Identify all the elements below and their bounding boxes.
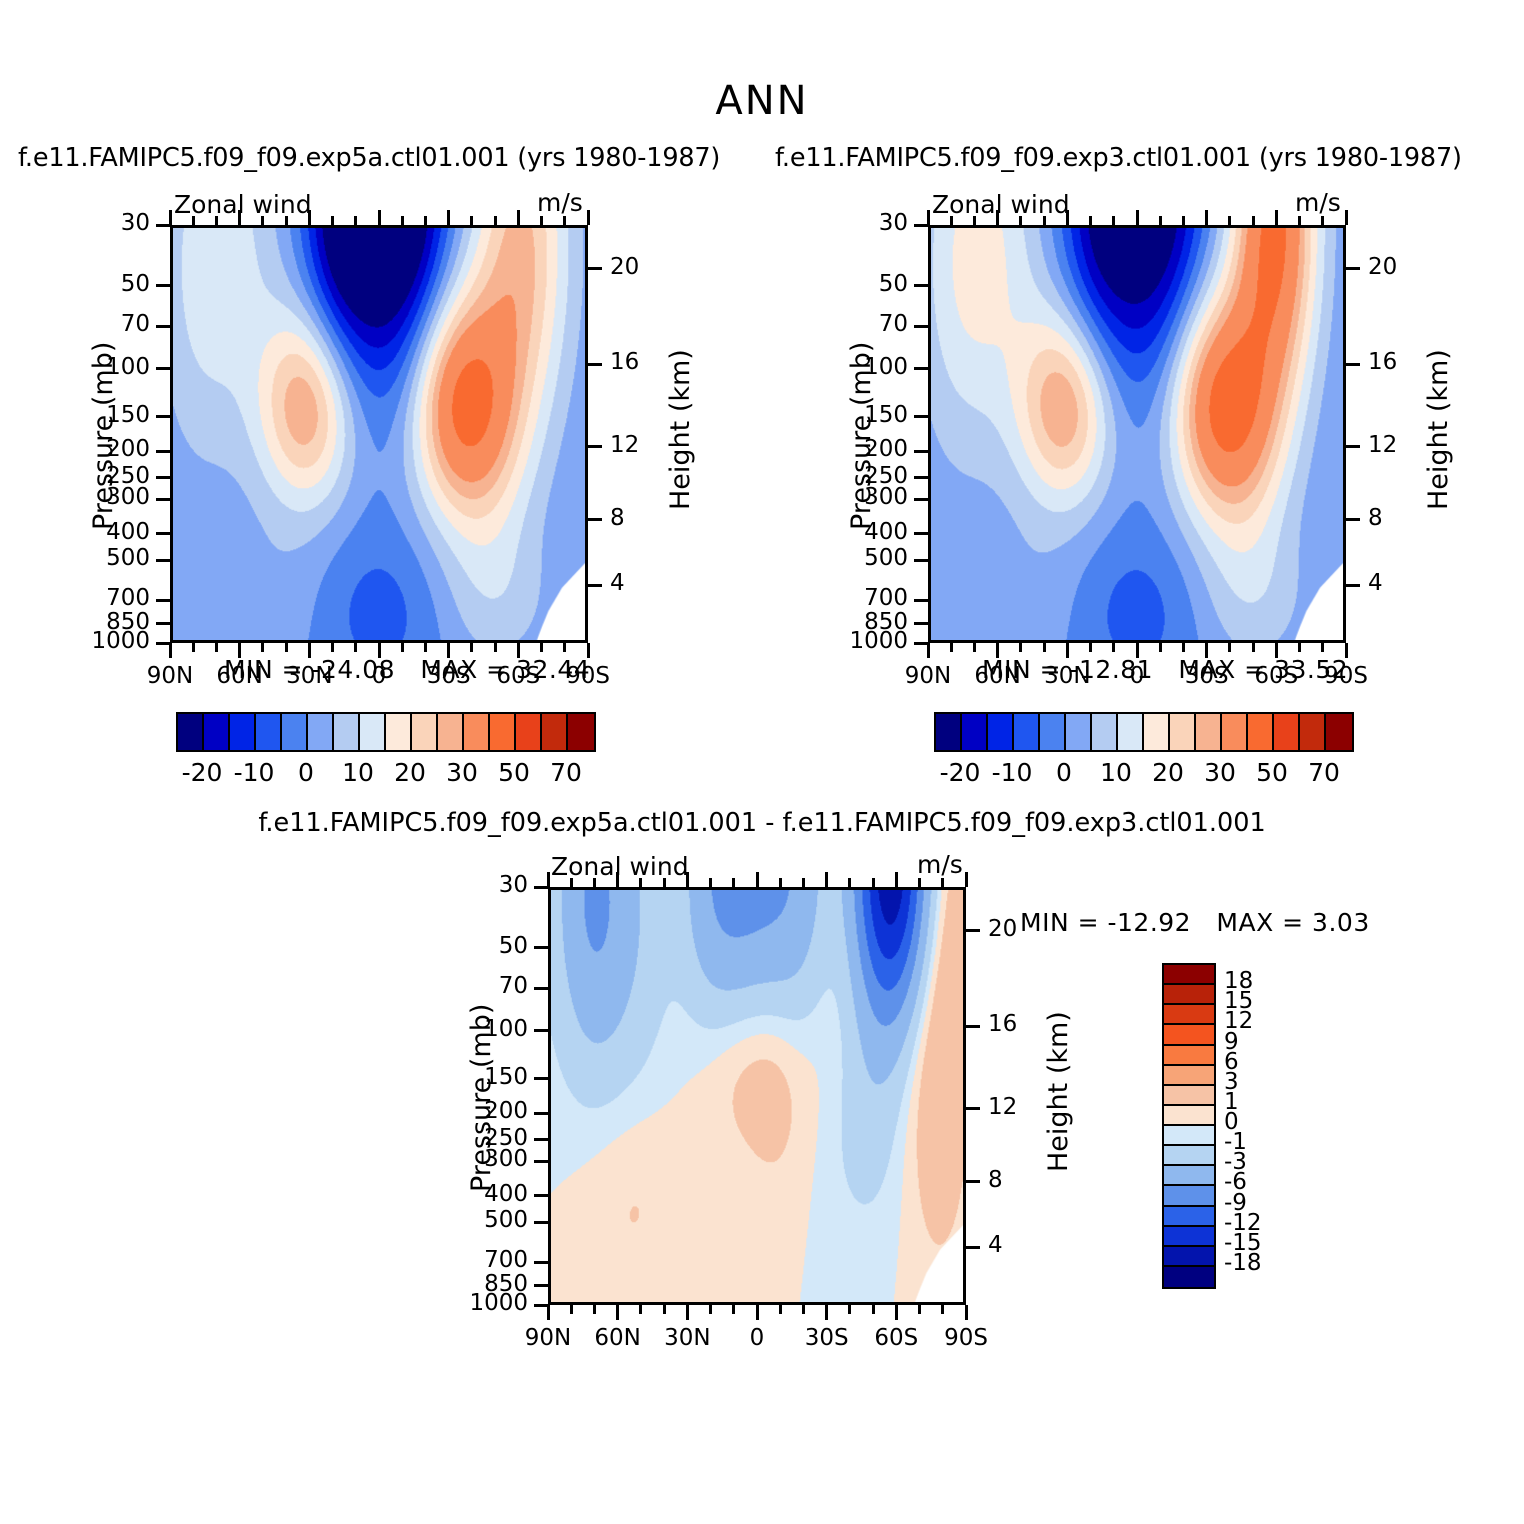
lat-tick-minor-top — [1019, 216, 1022, 225]
lat-tick-major — [587, 643, 590, 658]
lat-tick-major — [686, 1305, 689, 1320]
lat-tick-major-top — [308, 210, 311, 225]
lat-tick-minor-top — [401, 216, 404, 225]
colorbar-swatch — [230, 714, 256, 750]
pressure-tick — [534, 1138, 548, 1141]
lat-tick-minor-top — [192, 216, 195, 225]
pressure-tick — [914, 498, 928, 501]
pressure-tick-label: 400 — [420, 1181, 528, 1207]
colorbar-swatch — [1164, 1086, 1214, 1106]
lat-tick-major-top — [927, 210, 930, 225]
pressure-tick — [534, 1194, 548, 1197]
colorbar-swatch — [542, 714, 568, 750]
lat-tick-minor-top — [261, 216, 264, 225]
pressure-tick — [914, 325, 928, 328]
lat-tick-minor — [941, 1305, 944, 1314]
pressure-tick — [534, 1261, 548, 1264]
pressure-tick-label: 150 — [42, 402, 150, 428]
lat-tick-minor-top — [779, 878, 782, 887]
lat-tick-minor — [192, 643, 195, 652]
colorbar-swatch — [1164, 1227, 1214, 1247]
lat-tick-minor — [1089, 643, 1092, 652]
lat-tick-minor — [331, 643, 334, 652]
colorbar-swatch — [178, 714, 204, 750]
height-tick-label: 4 — [988, 1232, 1048, 1258]
colorbar-swatch — [1164, 1025, 1214, 1045]
left-panel-title: f.e11.FAMIPC5.f09_f09.exp5a.ctl01.001 (y… — [18, 143, 720, 173]
pressure-tick-label: 200 — [800, 436, 908, 462]
height-tick — [1346, 363, 1360, 366]
lat-tick-minor-top — [1182, 216, 1185, 225]
lat-tick-minor — [1112, 643, 1115, 652]
lat-tick-minor-top — [663, 878, 666, 887]
lat-tick-minor — [494, 643, 497, 652]
pressure-tick-label: 200 — [420, 1098, 528, 1124]
lat-tick-major-top — [378, 210, 381, 225]
lat-tick-minor — [1043, 643, 1046, 652]
colorbar-swatch — [438, 714, 464, 750]
pressure-tick-label: 1000 — [42, 628, 150, 654]
pressure-tick-label: 30 — [420, 872, 528, 898]
height-tick — [1346, 445, 1360, 448]
lat-tick-minor-top — [941, 878, 944, 887]
pressure-tick-label: 70 — [800, 311, 908, 337]
pressure-tick-label: 500 — [800, 545, 908, 571]
colorbar-swatch — [1164, 1106, 1214, 1126]
height-tick — [588, 267, 602, 270]
pressure-tick — [914, 622, 928, 625]
pressure-tick-label: 100 — [420, 1016, 528, 1042]
lat-tick-major — [1136, 643, 1139, 658]
lat-tick-minor-top — [732, 878, 735, 887]
colorbar-swatch — [1164, 1267, 1214, 1287]
pressure-tick — [914, 284, 928, 287]
pressure-tick-label: 300 — [420, 1146, 528, 1172]
pressure-tick-label: 150 — [800, 402, 908, 428]
lat-tick-major — [308, 643, 311, 658]
lat-tick-minor-top — [918, 878, 921, 887]
lat-tick-minor — [563, 643, 566, 652]
lat-tick-minor — [732, 1305, 735, 1314]
lat-tick-minor-top — [1159, 216, 1162, 225]
lat-tick-minor-top — [802, 878, 805, 887]
colorbar-swatch — [1164, 1005, 1214, 1025]
height-tick-label: 20 — [610, 254, 670, 280]
lat-tick-minor — [215, 643, 218, 652]
lat-tick-major-top — [756, 872, 759, 887]
colorbar-swatch — [1164, 1126, 1214, 1146]
pressure-tick-label: 400 — [42, 519, 150, 545]
diff-colorbar — [1162, 963, 1216, 1289]
height-tick — [966, 1025, 980, 1028]
lat-tick-minor-top — [1228, 216, 1231, 225]
left-contour-plot — [170, 225, 588, 643]
diff-variable-label: Zonal wind — [551, 852, 689, 881]
lat-tick-major — [169, 643, 172, 658]
lat-tick-major — [517, 643, 520, 658]
lat-tick-major-top — [447, 210, 450, 225]
colorbar-swatch — [568, 714, 594, 750]
pressure-tick-label: 30 — [800, 210, 908, 236]
lat-tick-major-top — [965, 872, 968, 887]
colorbar-swatch — [412, 714, 438, 750]
lat-tick-minor-top — [540, 216, 543, 225]
colorbar-tick-label: 70 — [1279, 758, 1369, 787]
lat-tick-major — [1205, 643, 1208, 658]
right-colorbar — [934, 712, 1354, 752]
lat-tick-major — [547, 1305, 550, 1320]
pressure-tick-label: 100 — [42, 354, 150, 380]
pressure-tick — [534, 1112, 548, 1115]
right-panel-title: f.e11.FAMIPC5.f09_f09.exp3.ctl01.001 (yr… — [775, 143, 1462, 173]
pressure-tick — [534, 1221, 548, 1224]
colorbar-swatch — [1164, 1166, 1214, 1186]
pressure-tick — [914, 599, 928, 602]
lat-tick-minor-top — [563, 216, 566, 225]
pressure-tick-label: 300 — [800, 484, 908, 510]
colorbar-swatch — [1066, 714, 1092, 750]
lat-tick-minor — [1019, 643, 1022, 652]
height-tick — [1346, 267, 1360, 270]
lat-tick-minor — [1159, 643, 1162, 652]
lat-tick-minor — [1182, 643, 1185, 652]
colorbar-swatch — [1196, 714, 1222, 750]
lat-tick-major-top — [1066, 210, 1069, 225]
lat-tick-minor — [639, 1305, 642, 1314]
colorbar-swatch — [1164, 1066, 1214, 1086]
page-title: ANN — [0, 78, 1524, 124]
right-plot-canvas — [931, 228, 1343, 640]
pressure-tick-label: 700 — [42, 585, 150, 611]
height-tick-label: 8 — [988, 1167, 1048, 1193]
lat-tick-minor-top — [1321, 216, 1324, 225]
colorbar-swatch — [1092, 714, 1118, 750]
colorbar-swatch — [1164, 1207, 1214, 1227]
right-units-label: m/s — [1295, 188, 1341, 217]
colorbar-swatch — [1164, 985, 1214, 1005]
height-tick — [966, 1246, 980, 1249]
left-variable-label: Zonal wind — [174, 190, 312, 219]
lat-tick-label: 90S — [538, 663, 638, 689]
lat-tick-minor-top — [848, 878, 851, 887]
colorbar-swatch — [490, 714, 516, 750]
pressure-tick — [914, 476, 928, 479]
lat-tick-major — [378, 643, 381, 658]
lat-tick-minor-top — [950, 216, 953, 225]
pressure-tick — [914, 559, 928, 562]
colorbar-swatch — [1164, 965, 1214, 985]
colorbar-swatch — [988, 714, 1014, 750]
colorbar-swatch — [936, 714, 962, 750]
height-tick-label: 20 — [988, 916, 1048, 942]
lat-tick-minor-top — [215, 216, 218, 225]
colorbar-swatch — [1300, 714, 1326, 750]
lat-tick-major-top — [1345, 210, 1348, 225]
pressure-tick-label: 1000 — [800, 628, 908, 654]
lat-tick-major-top — [1136, 210, 1139, 225]
lat-tick-major-top — [517, 210, 520, 225]
right-variable-label: Zonal wind — [932, 190, 1070, 219]
lat-tick-label: 90S — [916, 1325, 1016, 1351]
lat-tick-major-top — [1275, 210, 1278, 225]
lat-tick-minor — [401, 643, 404, 652]
colorbar-swatch — [204, 714, 230, 750]
height-tick-label: 12 — [610, 432, 670, 458]
colorbar-swatch — [962, 714, 988, 750]
lat-tick-minor-top — [1043, 216, 1046, 225]
lat-tick-label: 90S — [1296, 663, 1396, 689]
height-tick-label: 8 — [610, 505, 670, 531]
lat-tick-minor — [779, 1305, 782, 1314]
lat-tick-minor — [424, 643, 427, 652]
pressure-tick — [156, 367, 170, 370]
lat-tick-major-top — [616, 872, 619, 887]
colorbar-swatch — [1222, 714, 1248, 750]
colorbar-swatch — [1170, 714, 1196, 750]
left-units-label: m/s — [537, 188, 583, 217]
pressure-tick — [534, 987, 548, 990]
lat-tick-minor — [570, 1305, 573, 1314]
pressure-tick-label: 70 — [420, 973, 528, 999]
colorbar-swatch — [1144, 714, 1170, 750]
pressure-tick-label: 30 — [42, 210, 150, 236]
diff-max-label: MAX = 3.03 — [1216, 908, 1369, 937]
diff-panel-title: f.e11.FAMIPC5.f09_f09.exp5a.ctl01.001 - … — [0, 808, 1524, 838]
lat-tick-major — [927, 643, 930, 658]
left-colorbar — [176, 712, 596, 752]
lat-tick-major — [1345, 643, 1348, 658]
colorbar-tick-label: 70 — [521, 758, 611, 787]
colorbar-swatch — [308, 714, 334, 750]
colorbar-swatch — [1274, 714, 1300, 750]
pressure-tick — [156, 498, 170, 501]
pressure-tick-label: 700 — [800, 585, 908, 611]
colorbar-swatch — [1248, 714, 1274, 750]
lat-tick-minor — [354, 643, 357, 652]
lat-tick-major — [1275, 643, 1278, 658]
pressure-tick — [156, 415, 170, 418]
lat-tick-minor-top — [285, 216, 288, 225]
lat-tick-major — [965, 1305, 968, 1320]
pressure-tick — [534, 1160, 548, 1163]
lat-tick-minor — [918, 1305, 921, 1314]
right-contour-plot — [928, 225, 1346, 643]
height-tick — [966, 929, 980, 932]
height-tick-label: 4 — [1368, 570, 1428, 596]
colorbar-swatch — [1164, 1146, 1214, 1166]
pressure-tick-label: 50 — [42, 271, 150, 297]
colorbar-swatch — [386, 714, 412, 750]
lat-tick-major — [616, 1305, 619, 1320]
pressure-tick-label: 400 — [800, 519, 908, 545]
diff-units-label: m/s — [917, 850, 963, 879]
height-tick-label: 16 — [1368, 349, 1428, 375]
lat-tick-minor — [593, 1305, 596, 1314]
pressure-tick-label: 300 — [42, 484, 150, 510]
height-tick-label: 12 — [988, 1094, 1048, 1120]
colorbar-swatch — [1164, 1186, 1214, 1206]
pressure-tick — [914, 367, 928, 370]
lat-tick-major — [238, 643, 241, 658]
colorbar-tick-label: -18 — [1224, 1250, 1262, 1276]
pressure-tick — [156, 532, 170, 535]
lat-tick-major — [895, 1305, 898, 1320]
lat-tick-minor — [1298, 643, 1301, 652]
pressure-tick-label: 200 — [42, 436, 150, 462]
lat-tick-major — [996, 643, 999, 658]
height-tick — [588, 518, 602, 521]
lat-tick-minor — [802, 1305, 805, 1314]
colorbar-swatch — [334, 714, 360, 750]
lat-tick-minor-top — [494, 216, 497, 225]
pressure-tick-label: 70 — [42, 311, 150, 337]
lat-tick-minor — [261, 643, 264, 652]
lat-tick-minor — [973, 643, 976, 652]
height-tick — [966, 1180, 980, 1183]
lat-tick-minor-top — [354, 216, 357, 225]
lat-tick-minor — [872, 1305, 875, 1314]
lat-tick-minor — [1252, 643, 1255, 652]
lat-tick-minor-top — [973, 216, 976, 225]
pressure-tick — [156, 284, 170, 287]
lat-tick-major-top — [825, 872, 828, 887]
pressure-tick — [534, 946, 548, 949]
lat-tick-major-top — [169, 210, 172, 225]
colorbar-swatch — [464, 714, 490, 750]
lat-tick-minor — [950, 643, 953, 652]
colorbar-swatch — [1164, 1247, 1214, 1267]
lat-tick-minor — [709, 1305, 712, 1314]
pressure-tick-label: 100 — [800, 354, 908, 380]
colorbar-swatch — [256, 714, 282, 750]
pressure-tick — [914, 532, 928, 535]
height-tick — [588, 445, 602, 448]
pressure-tick-label: 500 — [42, 545, 150, 571]
lat-tick-minor-top — [639, 878, 642, 887]
lat-tick-minor-top — [1089, 216, 1092, 225]
diff-minmax: MIN = -12.92 MAX = 3.03 — [1020, 908, 1370, 937]
lat-tick-major — [825, 1305, 828, 1320]
pressure-tick — [156, 450, 170, 453]
height-tick — [1346, 518, 1360, 521]
lat-tick-minor — [848, 1305, 851, 1314]
lat-tick-minor-top — [593, 878, 596, 887]
height-tick-label: 12 — [1368, 432, 1428, 458]
colorbar-swatch — [1014, 714, 1040, 750]
lat-tick-minor-top — [1112, 216, 1115, 225]
height-tick — [588, 584, 602, 587]
lat-tick-major-top — [547, 872, 550, 887]
pressure-tick-label: 150 — [420, 1064, 528, 1090]
height-tick-label: 20 — [1368, 254, 1428, 280]
height-tick-label: 4 — [610, 570, 670, 596]
height-tick-label: 8 — [1368, 505, 1428, 531]
pressure-tick — [156, 599, 170, 602]
pressure-tick — [534, 1029, 548, 1032]
lat-tick-minor — [663, 1305, 666, 1314]
lat-tick-major-top — [587, 210, 590, 225]
colorbar-swatch — [360, 714, 386, 750]
pressure-tick — [914, 450, 928, 453]
lat-tick-minor — [470, 643, 473, 652]
pressure-tick — [534, 1284, 548, 1287]
pressure-tick-label: 500 — [420, 1207, 528, 1233]
lat-tick-minor-top — [1252, 216, 1255, 225]
colorbar-swatch — [1326, 714, 1352, 750]
pressure-tick — [534, 1077, 548, 1080]
left-plot-canvas — [173, 228, 585, 640]
lat-tick-major — [447, 643, 450, 658]
colorbar-swatch — [1164, 1046, 1214, 1066]
lat-tick-minor-top — [1298, 216, 1301, 225]
lat-tick-minor-top — [570, 878, 573, 887]
height-tick-label: 16 — [988, 1011, 1048, 1037]
colorbar-swatch — [516, 714, 542, 750]
lat-tick-major-top — [895, 872, 898, 887]
pressure-tick — [156, 559, 170, 562]
lat-tick-major-top — [1205, 210, 1208, 225]
lat-tick-minor-top — [331, 216, 334, 225]
pressure-tick-label: 700 — [420, 1247, 528, 1273]
lat-tick-minor-top — [872, 878, 875, 887]
colorbar-swatch — [282, 714, 308, 750]
lat-tick-minor — [540, 643, 543, 652]
diff-plot-canvas — [551, 890, 963, 1302]
height-tick — [588, 363, 602, 366]
lat-tick-minor-top — [709, 878, 712, 887]
pressure-tick-label: 50 — [420, 933, 528, 959]
pressure-tick — [156, 476, 170, 479]
lat-tick-major-top — [238, 210, 241, 225]
diff-contour-plot — [548, 887, 966, 1305]
lat-tick-major-top — [996, 210, 999, 225]
height-tick-label: 16 — [610, 349, 670, 375]
height-tick — [1346, 584, 1360, 587]
pressure-tick-label: 1000 — [420, 1290, 528, 1316]
pressure-tick-label: 50 — [800, 271, 908, 297]
colorbar-swatch — [1040, 714, 1066, 750]
colorbar-swatch — [1118, 714, 1144, 750]
lat-tick-minor-top — [424, 216, 427, 225]
pressure-tick — [156, 622, 170, 625]
lat-tick-minor — [285, 643, 288, 652]
height-tick — [966, 1107, 980, 1110]
pressure-tick — [156, 325, 170, 328]
lat-tick-major — [756, 1305, 759, 1320]
lat-tick-minor — [1321, 643, 1324, 652]
lat-tick-minor — [1228, 643, 1231, 652]
lat-tick-minor-top — [470, 216, 473, 225]
pressure-tick — [914, 415, 928, 418]
lat-tick-major — [1066, 643, 1069, 658]
lat-tick-major-top — [686, 872, 689, 887]
